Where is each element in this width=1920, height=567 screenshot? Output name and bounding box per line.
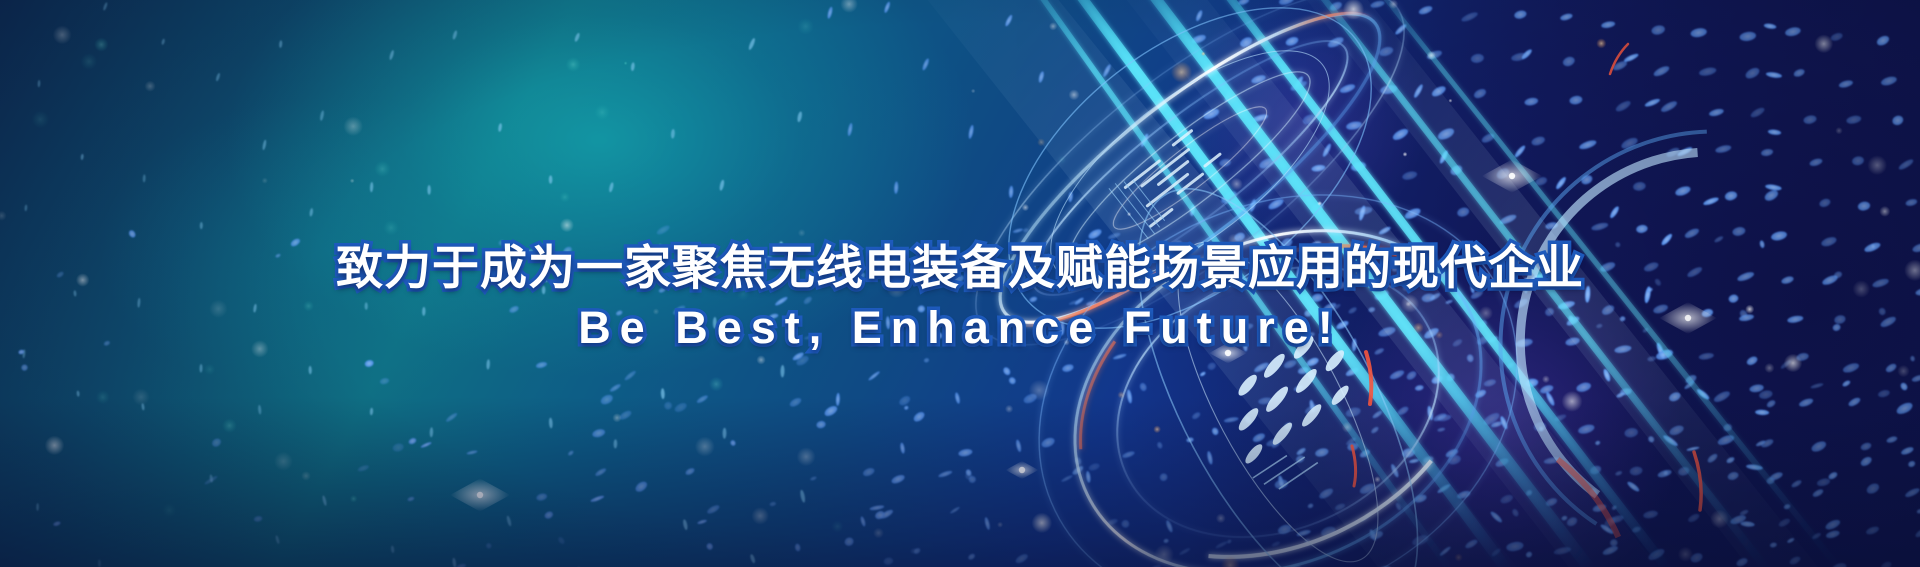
headline-english: Be Best, Enhance Future! [0, 301, 1920, 355]
headline-block: 致力于成为一家聚焦无线电装备及赋能场景应用的现代企业 Be Best, Enha… [0, 240, 1920, 355]
hero-banner: 致力于成为一家聚焦无线电装备及赋能场景应用的现代企业 Be Best, Enha… [0, 0, 1920, 567]
headline-chinese: 致力于成为一家聚焦无线电装备及赋能场景应用的现代企业 [0, 240, 1920, 295]
